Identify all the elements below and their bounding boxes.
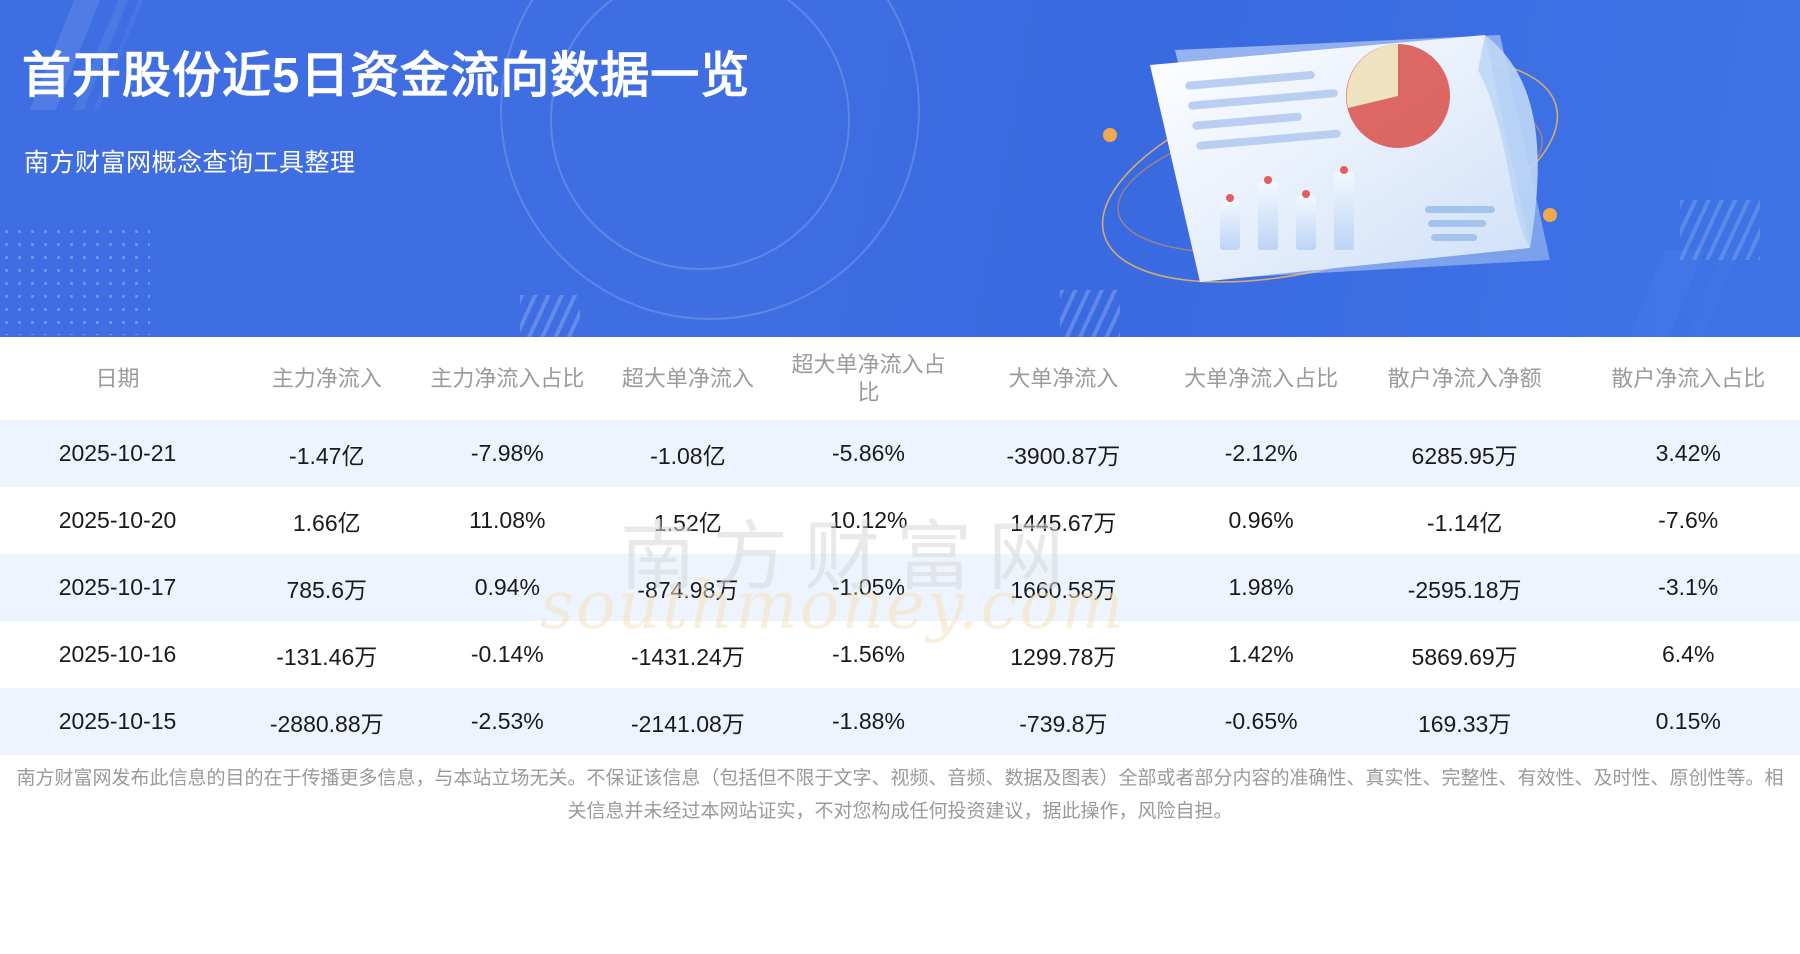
cell-xl-net: -2141.08万 — [596, 688, 779, 755]
column-header-lg-pct: 大单净流入占比 — [1169, 337, 1352, 420]
cell-lg-net: 1299.78万 — [957, 621, 1169, 688]
fund-flow-table: 日期 主力净流入 主力净流入占比 超大单净流入 超大单净流入占比 大单净流入 大… — [0, 337, 1800, 755]
cell-retail-net: 5869.69万 — [1353, 621, 1577, 688]
page-title: 首开股份近5日资金流向数据一览 — [22, 48, 750, 104]
cell-retail-pct: -7.6% — [1576, 487, 1800, 554]
cell-xl-pct: -1.88% — [780, 688, 958, 755]
cell-main-pct: -7.98% — [418, 420, 596, 487]
column-header-main-pct: 主力净流入占比 — [418, 337, 596, 420]
cell-lg-net: 1445.67万 — [957, 487, 1169, 554]
cell-date: 2025-10-17 — [0, 554, 235, 621]
decor-hatch-icon — [1680, 200, 1760, 260]
cell-main-net: -131.46万 — [235, 621, 418, 688]
cell-main-net: 1.66亿 — [235, 487, 418, 554]
decor-dot-grid-icon — [0, 225, 150, 335]
table-row: 2025-10-15 -2880.88万 -2.53% -2141.08万 -1… — [0, 688, 1800, 755]
cell-main-net: -2880.88万 — [235, 688, 418, 755]
cell-lg-pct: 1.42% — [1169, 621, 1352, 688]
cell-lg-pct: -2.12% — [1169, 420, 1352, 487]
column-header-retail-net: 散户净流入净额 — [1353, 337, 1577, 420]
decor-hatch-icon — [520, 295, 580, 337]
cell-xl-net: -1.08亿 — [596, 420, 779, 487]
column-header-xl-net: 超大单净流入 — [596, 337, 779, 420]
column-header-retail-pct: 散户净流入占比 — [1576, 337, 1800, 420]
cell-retail-pct: 3.42% — [1576, 420, 1800, 487]
cell-xl-pct: 10.12% — [780, 487, 958, 554]
cell-xl-pct: -1.56% — [780, 621, 958, 688]
page-header-banner: 首开股份近5日资金流向数据一览 南方财富网概念查询工具整理 — [0, 0, 1800, 337]
cell-retail-net: 6285.95万 — [1353, 420, 1577, 487]
cell-main-pct: -0.14% — [418, 621, 596, 688]
cell-date: 2025-10-15 — [0, 688, 235, 755]
cell-lg-net: 1660.58万 — [957, 554, 1169, 621]
table-row: 2025-10-21 -1.47亿 -7.98% -1.08亿 -5.86% -… — [0, 420, 1800, 487]
cell-date: 2025-10-21 — [0, 420, 235, 487]
report-chart-illustration-icon — [1080, 10, 1600, 310]
cell-lg-pct: -0.65% — [1169, 688, 1352, 755]
cell-xl-pct: -5.86% — [780, 420, 958, 487]
cell-main-net: 785.6万 — [235, 554, 418, 621]
cell-retail-pct: 0.15% — [1576, 688, 1800, 755]
cell-main-pct: -2.53% — [418, 688, 596, 755]
cell-retail-net: 169.33万 — [1353, 688, 1577, 755]
cell-lg-net: -3900.87万 — [957, 420, 1169, 487]
cell-xl-net: 1.52亿 — [596, 487, 779, 554]
cell-lg-pct: 1.98% — [1169, 554, 1352, 621]
column-header-xl-pct: 超大单净流入占比 — [780, 337, 958, 420]
cell-xl-net: -874.98万 — [596, 554, 779, 621]
cell-xl-net: -1431.24万 — [596, 621, 779, 688]
table-row: 2025-10-16 -131.46万 -0.14% -1431.24万 -1.… — [0, 621, 1800, 688]
fund-flow-table-container: 日期 主力净流入 主力净流入占比 超大单净流入 超大单净流入占比 大单净流入 大… — [0, 337, 1800, 762]
page-subtitle: 南方财富网概念查询工具整理 — [24, 143, 356, 179]
cell-main-pct: 11.08% — [418, 487, 596, 554]
column-header-lg-net: 大单净流入 — [957, 337, 1169, 420]
cell-lg-pct: 0.96% — [1169, 487, 1352, 554]
column-header-main-net: 主力净流入 — [235, 337, 418, 420]
column-header-date: 日期 — [0, 337, 235, 420]
cell-retail-net: -1.14亿 — [1353, 487, 1577, 554]
table-row: 2025-10-17 785.6万 0.94% -874.98万 -1.05% … — [0, 554, 1800, 621]
cell-retail-pct: 6.4% — [1576, 621, 1800, 688]
cell-lg-net: -739.8万 — [957, 688, 1169, 755]
table-header-row: 日期 主力净流入 主力净流入占比 超大单净流入 超大单净流入占比 大单净流入 大… — [0, 337, 1800, 420]
cell-xl-pct: -1.05% — [780, 554, 958, 621]
cell-date: 2025-10-16 — [0, 621, 235, 688]
cell-retail-net: -2595.18万 — [1353, 554, 1577, 621]
disclaimer-text: 南方财富网发布此信息的目的在于传播更多信息，与本站立场无关。不保证该信息（包括但… — [0, 762, 1800, 828]
cell-retail-pct: -3.1% — [1576, 554, 1800, 621]
cell-date: 2025-10-20 — [0, 487, 235, 554]
cell-main-net: -1.47亿 — [235, 420, 418, 487]
cell-main-pct: 0.94% — [418, 554, 596, 621]
table-row: 2025-10-20 1.66亿 11.08% 1.52亿 10.12% 144… — [0, 487, 1800, 554]
